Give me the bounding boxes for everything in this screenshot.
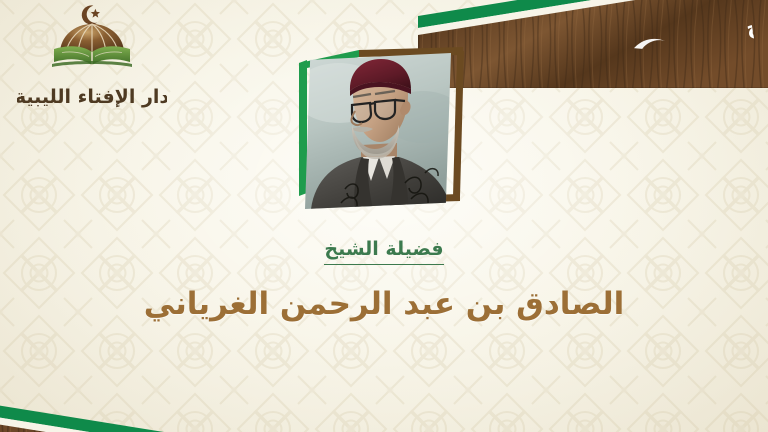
brand-wordmark: دار الإفتاء الليبية [17, 79, 167, 113]
sheikh-portrait-photo [305, 53, 451, 209]
caption-eyebrow: فضيلة الشيخ [324, 238, 443, 265]
brand-logo: دار الإفتاء الليبية [12, 4, 172, 120]
speaker-name: الصادق بن عبد الرحمن الغرياني [0, 284, 768, 324]
wood-ribbon-bottom-left [0, 342, 350, 432]
portrait-frame [297, 47, 469, 215]
caption-block: فضيلة الشيخ الصادق بن عبد الرحمن الغريان… [0, 238, 768, 324]
svg-text:دار الإفتاء الليبية: دار الإفتاء الليبية [17, 86, 167, 108]
title-card: دار الإفتاء الليبية التناصح [0, 0, 768, 432]
mosque-dome-book-icon [40, 4, 144, 78]
